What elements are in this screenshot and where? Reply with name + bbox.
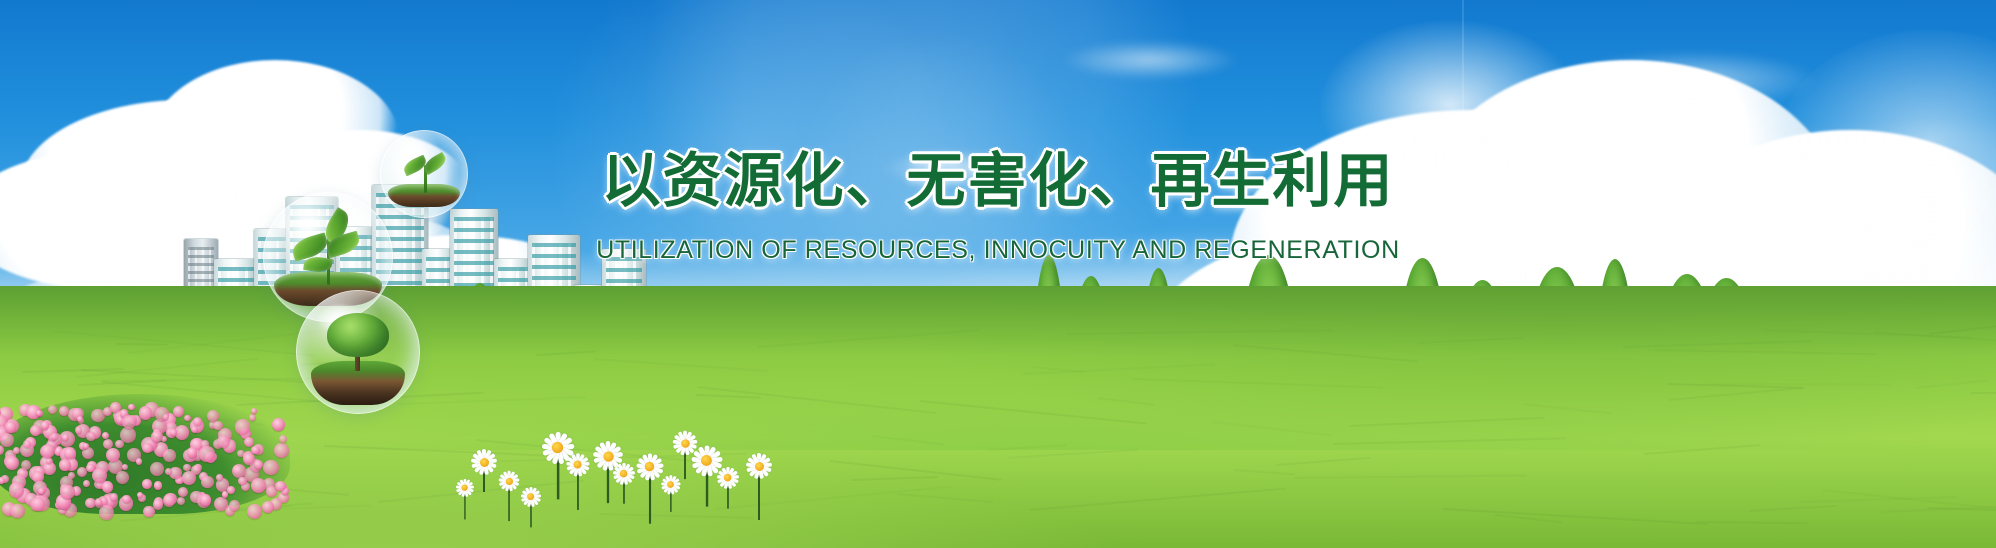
mow-stripe (378, 480, 584, 503)
daisy-center (603, 451, 613, 461)
rose-flower (199, 446, 215, 462)
rose-flower (62, 434, 69, 441)
daisy-flower (745, 452, 773, 480)
rose-flower (262, 501, 274, 513)
daisy-center (681, 439, 690, 448)
daisy-center (755, 462, 764, 471)
daisy-flower (673, 431, 698, 456)
daisy-flower (614, 464, 634, 484)
mow-stripe (896, 493, 993, 503)
mow-stripe (1294, 475, 1527, 479)
rose-flower (222, 491, 228, 497)
daisy-center (480, 458, 489, 467)
rose-flower (163, 494, 175, 506)
rose-flower (251, 478, 266, 493)
rose-flower (229, 500, 240, 511)
rose-flower (137, 492, 143, 498)
rose-flower (0, 433, 14, 447)
eco-hero-banner: 以资源化、无害化、再生利用 UTILIZATION OF RESOURCES, … (0, 0, 1996, 548)
rose-flower (163, 414, 169, 420)
rose-flower (200, 494, 212, 506)
rose-flower (275, 481, 285, 491)
rose-flower (235, 419, 250, 434)
mow-stripe (1709, 383, 1890, 386)
daisy-flower (718, 468, 738, 488)
daisy-flower (458, 481, 472, 495)
mow-stripe (1696, 521, 1808, 524)
rose-flower (254, 460, 262, 468)
rose-flower (41, 444, 55, 458)
daisy-flower (522, 488, 539, 505)
rose-flower (5, 456, 19, 470)
rose-flower (102, 481, 113, 492)
daisy-center (667, 481, 674, 488)
daisy-flower (566, 453, 589, 476)
rose-flower (165, 468, 172, 475)
daisy-flower (634, 451, 665, 482)
rose-flower (272, 418, 285, 431)
rose-flower (170, 429, 177, 436)
page-subtitle: UTILIZATION OF RESOURCES, INNOCUITY AND … (0, 236, 1996, 265)
rose-flower (136, 458, 143, 465)
headline-block: 以资源化、无害化、再生利用 UTILIZATION OF RESOURCES, … (0, 150, 1996, 265)
rose-flower (99, 505, 114, 520)
daisy-center (552, 442, 563, 453)
rose-flower (115, 440, 123, 448)
rose-flower (139, 406, 152, 419)
cloud-wisp-1 (1560, 50, 1820, 110)
mow-stripe (1276, 456, 1371, 465)
rose-flower (122, 415, 136, 429)
rose-flower (64, 447, 76, 459)
rose-flower (263, 460, 279, 476)
tree-crown (327, 313, 389, 357)
rose-flower (21, 460, 31, 470)
bubble-floating-island-tree (296, 290, 420, 414)
rose-flower (193, 417, 202, 426)
rose-flower (51, 433, 58, 440)
rose-flower (142, 443, 152, 453)
daisy-center (506, 478, 513, 485)
mow-stripe (1443, 508, 1709, 525)
rose-flower (274, 443, 289, 458)
mow-stripe (599, 513, 754, 519)
rose-flower (92, 468, 107, 483)
rose-flower (59, 459, 70, 470)
rose-flower (77, 467, 87, 477)
rose-flower (59, 406, 69, 416)
rose-flower (247, 504, 262, 519)
mow-stripe (1029, 487, 1285, 510)
rose-flower (216, 474, 223, 481)
rose-flower (251, 408, 257, 414)
rose-flower (83, 480, 90, 487)
mow-stripe (1749, 505, 1837, 512)
rose-flower (213, 421, 222, 430)
rose-flower (227, 486, 234, 493)
rose-flower (10, 504, 25, 519)
rose-flower (75, 426, 83, 434)
daisy-flower (663, 477, 679, 493)
rose-flower (163, 449, 176, 462)
rose-flower (110, 493, 118, 501)
rose-flower (122, 464, 128, 470)
pink-rose-bush (0, 394, 290, 514)
cloud-wisp-2 (1060, 40, 1240, 80)
rose-flower (201, 476, 214, 489)
rose-flower (41, 421, 49, 429)
rose-flower (95, 498, 103, 506)
rose-flower (182, 471, 196, 485)
daisy-flower (500, 472, 518, 490)
rose-flower (217, 435, 230, 448)
rose-flower (86, 432, 95, 441)
grass-field (0, 286, 1996, 548)
mow-stripe (1234, 469, 1295, 475)
rose-flower (31, 497, 45, 511)
page-title: 以资源化、无害化、再生利用 (0, 150, 1996, 212)
mow-stripe (715, 486, 952, 510)
mow-stripe (1007, 449, 1137, 459)
rose-flower (154, 481, 163, 490)
rose-flower (142, 479, 151, 488)
rose-flower (9, 482, 24, 497)
daisy-flower (470, 448, 498, 476)
rose-flower (184, 415, 190, 421)
mow-stripe (851, 476, 938, 481)
rose-flower (243, 453, 254, 464)
rose-flower (238, 477, 247, 486)
mow-stripe (1822, 489, 1996, 516)
rose-flower (5, 421, 17, 433)
